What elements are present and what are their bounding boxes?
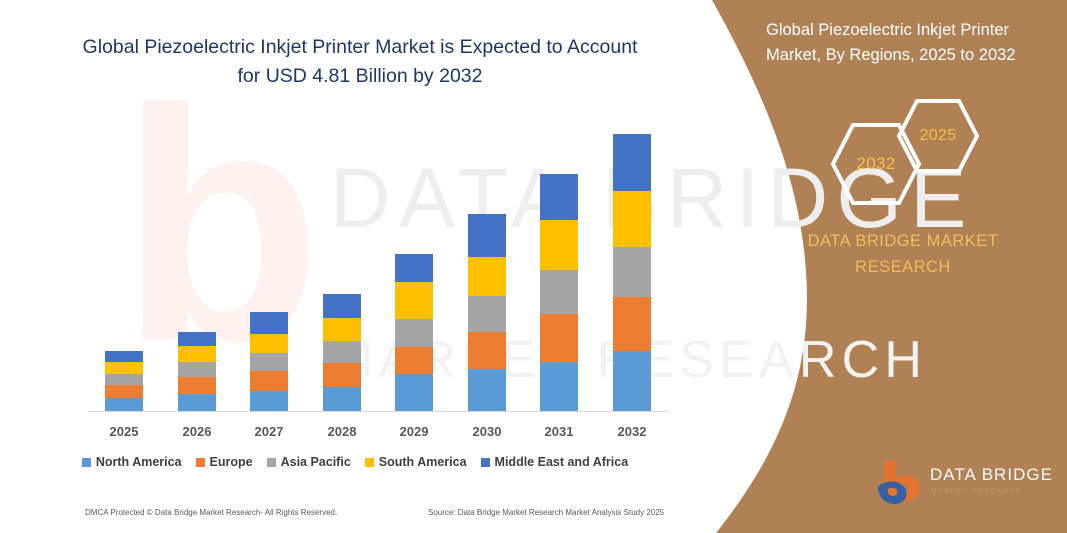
bar-segment (323, 341, 361, 363)
legend-item-middle-east-and-africa[interactable]: Middle East and Africa (481, 455, 629, 469)
bar-segment (540, 174, 578, 220)
bar-group-2029 (395, 254, 433, 411)
bar-segment (468, 332, 506, 369)
bar-segment (468, 369, 506, 411)
legend-label: South America (379, 455, 467, 469)
bar-group-2026 (178, 332, 216, 411)
legend-label: Asia Pacific (281, 455, 351, 469)
right-content: Global Piezoelectric Inkjet Printer Mark… (740, 0, 1067, 533)
brand-name: DATA BRIDGE MARKET RESEARCH (758, 228, 1048, 280)
bar-segment (105, 398, 143, 411)
bar-segment (323, 318, 361, 341)
legend-swatch-icon (196, 458, 205, 467)
legend-label: North America (96, 455, 182, 469)
chart-plot-area (88, 110, 668, 412)
bar-segment (323, 363, 361, 387)
bar-segment (105, 351, 143, 362)
stacked-bar-chart (88, 110, 668, 413)
x-axis-line (88, 411, 668, 412)
bar-group-2028 (323, 294, 361, 411)
bar-segment (613, 191, 651, 247)
footer: DMCA Protected © Data Bridge Market Rese… (0, 508, 700, 524)
legend-swatch-icon (267, 458, 276, 467)
bar-group-2030 (468, 214, 506, 411)
hexagon-2025-label: 2025 (920, 127, 957, 145)
x-tick-2032: 2032 (613, 424, 651, 439)
bar-segment (613, 247, 651, 297)
legend-swatch-icon (82, 458, 91, 467)
bar-segment (468, 257, 506, 296)
x-tick-2025: 2025 (105, 424, 143, 439)
x-tick-2031: 2031 (540, 424, 578, 439)
bar-group-2025 (105, 351, 143, 411)
bar-segment (613, 297, 651, 351)
footer-dmca-text: DMCA Protected © Data Bridge Market Rese… (85, 508, 337, 517)
bar-segment (178, 346, 216, 362)
bar-segment (395, 347, 433, 374)
hexagon-2025: 2025 (896, 98, 980, 174)
logo-text: DATA BRIDGE (930, 465, 1053, 485)
bar-segment (540, 270, 578, 314)
legend-item-europe[interactable]: Europe (196, 455, 253, 469)
data-bridge-logo: DATA BRIDGE MARKET RESEARCH (872, 457, 1062, 509)
x-tick-2029: 2029 (395, 424, 433, 439)
chart-legend: North AmericaEuropeAsia PacificSouth Ame… (0, 455, 710, 469)
bar-segment (468, 296, 506, 332)
legend-item-south-america[interactable]: South America (365, 455, 467, 469)
infographic-root: b DATA BRIDGE MARKET RESEARCH Global Pie… (0, 0, 1067, 533)
logo-bridge-icon (872, 457, 932, 509)
bar-segment (540, 362, 578, 411)
bar-segment (323, 294, 361, 318)
legend-item-asia-pacific[interactable]: Asia Pacific (267, 455, 351, 469)
bar-segment (178, 362, 216, 377)
bar-segment (395, 282, 433, 319)
hexagon-group: 2032 2025 (820, 98, 1020, 208)
x-tick-2026: 2026 (178, 424, 216, 439)
legend-swatch-icon (481, 458, 490, 467)
bar-segment (178, 394, 216, 411)
bar-segment (250, 391, 288, 411)
x-tick-2030: 2030 (468, 424, 506, 439)
bar-segment (105, 362, 143, 374)
footer-source-text: Source: Data Bridge Market Research Mark… (428, 508, 664, 517)
panel-title: Global Piezoelectric Inkjet Printer Mark… (766, 18, 1056, 68)
x-tick-2028: 2028 (323, 424, 361, 439)
bar-segment (540, 314, 578, 362)
bar-segment (105, 385, 143, 398)
bar-segment (395, 319, 433, 347)
legend-label: Europe (210, 455, 253, 469)
bar-segment (613, 134, 651, 191)
bar-segment (540, 220, 578, 270)
bar-segment (395, 374, 433, 411)
logo-subtitle: MARKET RESEARCH (931, 488, 1023, 495)
bar-segment (250, 334, 288, 353)
bar-group-2032 (613, 134, 651, 411)
bar-segment (468, 214, 506, 257)
bar-segment (178, 332, 216, 346)
bar-segment (250, 353, 288, 371)
x-tick-2027: 2027 (250, 424, 288, 439)
bar-group-2027 (250, 312, 288, 411)
legend-item-north-america[interactable]: North America (82, 455, 182, 469)
bar-segment (323, 387, 361, 411)
page-title: Global Piezoelectric Inkjet Printer Mark… (80, 33, 640, 91)
bar-segment (178, 377, 216, 394)
bar-segment (250, 371, 288, 391)
left-content: Global Piezoelectric Inkjet Printer Mark… (0, 0, 710, 533)
x-axis-tick-labels: 20252026202720282029203020312032 (88, 424, 668, 444)
bar-segment (395, 254, 433, 282)
legend-swatch-icon (365, 458, 374, 467)
bar-segment (250, 312, 288, 334)
hexagon-2032-label: 2032 (856, 154, 895, 174)
bar-group-2031 (540, 174, 578, 411)
bar-segment (613, 351, 651, 411)
legend-label: Middle East and Africa (495, 455, 629, 469)
bar-segment (105, 374, 143, 385)
